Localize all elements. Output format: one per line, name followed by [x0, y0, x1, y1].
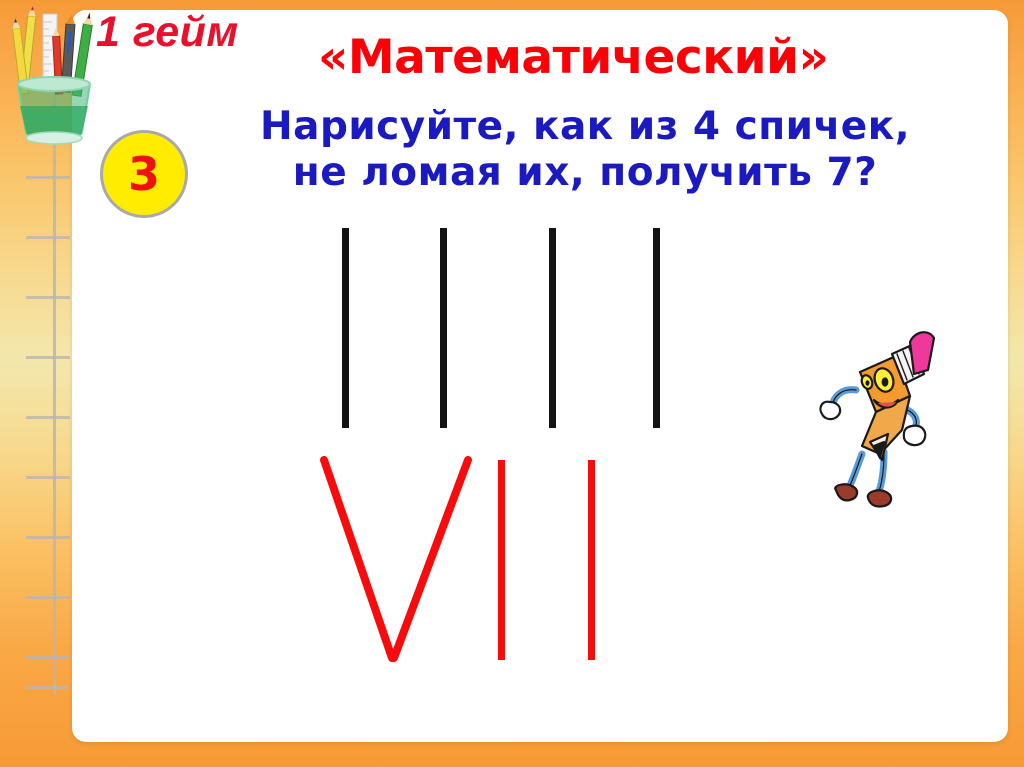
ruler-tick — [26, 686, 70, 689]
matchstick-4 — [653, 228, 660, 428]
ruler-tick — [26, 656, 70, 659]
matchstick-3 — [549, 228, 556, 428]
question-line-1: Нарисуйте, как из 4 спичек, — [190, 104, 980, 150]
ruler-tick — [26, 596, 70, 599]
ruler-tick — [26, 176, 70, 179]
game-label: 1 гейм — [96, 8, 239, 57]
slide-root: 1 гейм «Математический» 3 Нарисуйте, как… — [0, 0, 1024, 767]
question-number-badge: 3 — [100, 130, 188, 218]
question-text: Нарисуйте, как из 4 спичек, не ломая их,… — [190, 104, 980, 196]
matchstick-1 — [342, 228, 349, 428]
page-title: «Математический» — [318, 30, 828, 85]
ruler-tick — [26, 356, 70, 359]
question-line-2: не ломая их, получить 7? — [190, 150, 980, 196]
matchstick-2 — [440, 228, 447, 428]
question-number: 3 — [128, 151, 160, 197]
ruler-tick — [26, 236, 70, 239]
answer-roman-v — [318, 456, 478, 664]
ruler-tick — [26, 536, 70, 539]
ruler-tick — [26, 416, 70, 419]
ruler-tick — [26, 476, 70, 479]
answer-roman-i-1 — [498, 460, 505, 660]
pencil-mascot-icon — [818, 330, 936, 515]
pencil-cup-icon — [2, 2, 106, 148]
ruler-tick — [26, 296, 70, 299]
answer-roman-i-2 — [588, 460, 595, 660]
